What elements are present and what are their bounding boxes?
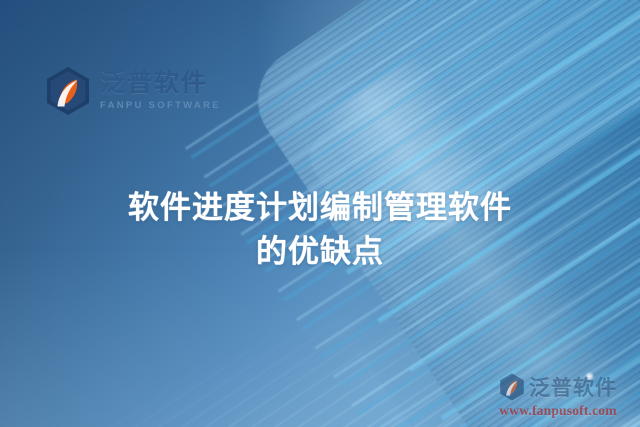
watermark-name: 泛普软件 bbox=[529, 372, 617, 402]
watermark-url: www.fanpusoft.com bbox=[482, 403, 634, 419]
brand-text: 泛普软件 FANPU SOFTWARE bbox=[100, 71, 221, 111]
title-line-2: 的优缺点 bbox=[24, 230, 616, 274]
watermark: 泛普软件 www.fanpusoft.com bbox=[482, 372, 634, 419]
promo-banner: 泛普软件 FANPU SOFTWARE 软件进度计划编制管理软件 的优缺点 泛普… bbox=[0, 0, 640, 427]
fanpu-hexagon-logo-icon bbox=[45, 66, 91, 116]
brand-name-en: FANPU SOFTWARE bbox=[100, 101, 221, 111]
brand-logo: 泛普软件 FANPU SOFTWARE bbox=[45, 66, 221, 116]
brand-name-cn: 泛普软件 bbox=[100, 71, 221, 96]
fanpu-hexagon-logo-icon bbox=[499, 373, 525, 401]
watermark-logo-row: 泛普软件 bbox=[482, 372, 634, 402]
page-title: 软件进度计划编制管理软件 的优缺点 bbox=[0, 186, 640, 274]
title-line-1: 软件进度计划编制管理软件 bbox=[24, 186, 616, 230]
